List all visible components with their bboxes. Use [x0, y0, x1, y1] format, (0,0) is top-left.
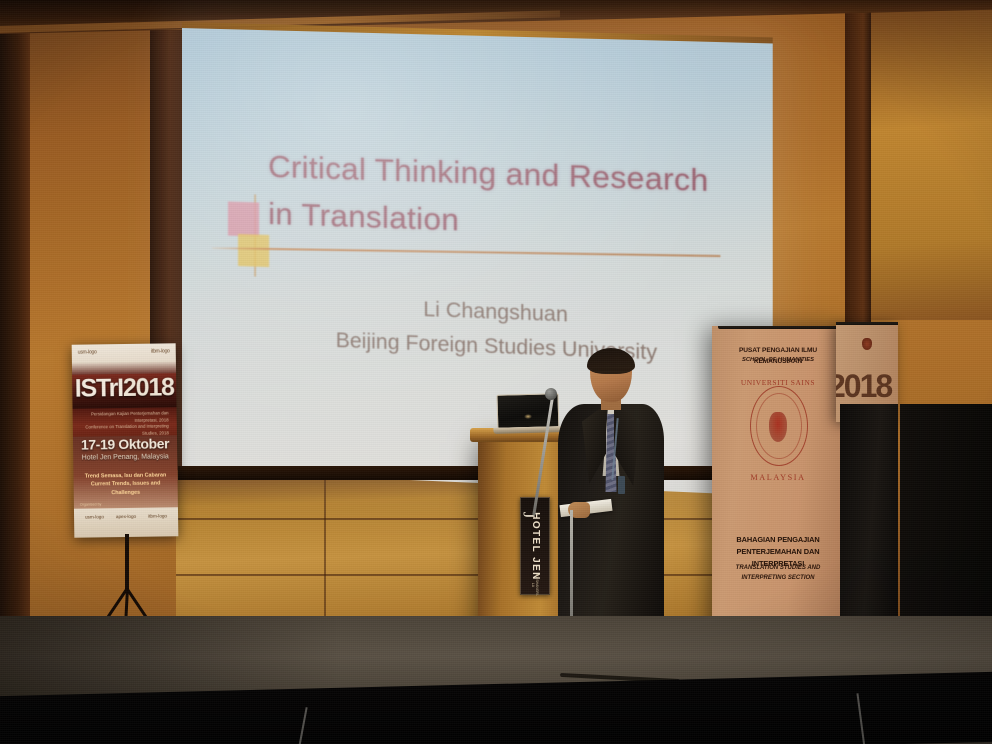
slide-title: Critical Thinking and Research in Transl… [268, 143, 750, 254]
microphone-capsule [545, 388, 557, 400]
banner-section-english-line-1: TRANSLATION STUDIES AND [720, 564, 836, 574]
poster-logo-left: usm-logo [78, 349, 97, 355]
conference-photo-scene: Critical Thinking and Research in Transl… [0, 0, 992, 744]
banner-section-english: TRANSLATION STUDIES AND INTERPRETING SEC… [720, 564, 836, 584]
banner-top-rail [718, 326, 840, 329]
screen-bottom-frame [178, 466, 770, 480]
crest-bottom-text: MALAYSIA [736, 473, 820, 482]
poster-acronym: ISTrI [75, 374, 124, 403]
poster-footer-logo-apex: apex-logo [116, 514, 136, 519]
slide-motif-gold-square [238, 234, 269, 267]
poster-title: ISTrI2018 [72, 373, 176, 403]
poster-tripod-stand [96, 534, 160, 626]
poster-venue: Hotel Jen Penang, Malaysia [73, 453, 177, 461]
tripod-post [125, 534, 129, 592]
poster-footer-logo-usm: usm-logo [85, 514, 104, 519]
poster-header-band: usm-logo itbm-logo [72, 343, 176, 376]
left-wall-shadow [0, 0, 30, 640]
banner-year: 2018 [836, 368, 890, 405]
poster-strapline: Persidangan Kajian Penterjemahan dan Int… [73, 407, 177, 436]
presenter-glasses [592, 369, 630, 378]
poster-footer-logo-itbm: itbm-logo [148, 513, 167, 518]
poster-header-logos: usm-logo itbm-logo [78, 348, 170, 355]
banner-section-english-line-2: INTERPRETING SECTION [720, 574, 836, 584]
crest-emblem-icon [769, 412, 787, 442]
foreground-cable [856, 693, 865, 744]
foreground-cable [295, 707, 308, 744]
hotel-jen-wordmark: HOTEL JEN [530, 512, 541, 581]
poster-theme-en: Current Trends, Issues and Challenges [80, 480, 172, 498]
banner-heading-english: SCHOOL OF HUMANITIES [718, 357, 838, 363]
poster-theme-block: Trend Semasa, Isu dan Cabaran Current Tr… [79, 471, 171, 497]
usm-crest: UNIVERSITI SAINS MALAYSIA [736, 378, 820, 482]
banner-top-rail [836, 322, 898, 325]
laptop-screen-glow [524, 413, 532, 418]
panel-seam [324, 470, 326, 620]
right-wall-shadow-column [845, 0, 871, 330]
screen-glare [182, 28, 773, 496]
projection-screen: Critical Thinking and Research in Transl… [182, 28, 773, 496]
conference-poster-left: usm-logo itbm-logo ISTrI2018 Persidangan… [72, 343, 179, 537]
poster-dates: 17-19 Oktober [73, 435, 177, 452]
hotel-jen-sub-wordmark: BY SHANGRI-LA [531, 574, 539, 596]
slide-motif-pink-square [228, 202, 259, 237]
poster-organiser-note: Organised by [80, 502, 101, 506]
right-wall-panel [862, 0, 992, 320]
poster-year: 2018 [123, 373, 174, 402]
istri-logo-icon [862, 338, 872, 350]
poster-logo-right: itbm-logo [151, 348, 170, 354]
banner-section-malay-line-1: BAHAGIAN PENGAJIAN [718, 534, 838, 546]
poster-strapline-my: Persidangan Kajian Penterjemahan dan Int… [81, 410, 169, 424]
slide-subtitle: Li Changshuan Beijing Foreign Studies Un… [242, 286, 754, 374]
presenter-name-badge [618, 476, 625, 494]
